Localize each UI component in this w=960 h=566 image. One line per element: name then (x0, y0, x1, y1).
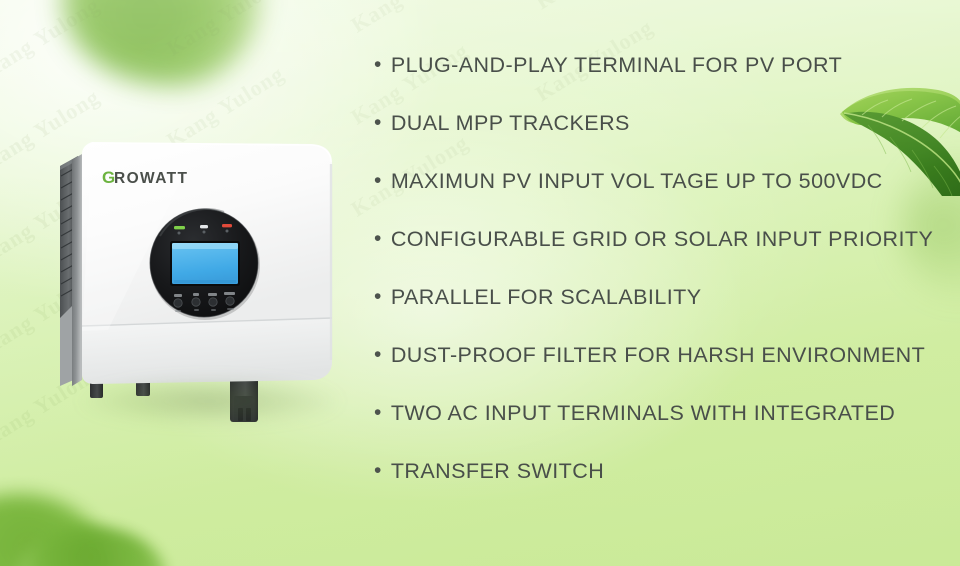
bullet-icon: • (374, 54, 382, 75)
list-item: • CONFIGURABLE GRID OR SOLAR INPUT PRIOR… (374, 228, 934, 286)
list-item: • PLUG-AND-PLAY TERMINAL FOR PV PORT (374, 54, 934, 112)
list-item: • PARALLEL FOR SCALABILITY (374, 286, 934, 344)
feature-label: TWO AC INPUT TERMINALS WITH INTEGRATED (391, 402, 895, 425)
list-item: • MAXIMUN PV INPUT VOL TAGE UP TO 500VDC (374, 170, 934, 228)
bullet-icon: • (374, 228, 382, 249)
feature-label: TRANSFER SWITCH (391, 460, 604, 483)
feature-banner: Kang YulongKang YulongKang YulongKang Yu… (0, 0, 960, 566)
feature-list: • PLUG-AND-PLAY TERMINAL FOR PV PORT • D… (374, 54, 934, 518)
bullet-icon: • (374, 460, 382, 481)
list-item: • DUAL MPP TRACKERS (374, 112, 934, 170)
feature-label: PARALLEL FOR SCALABILITY (391, 286, 702, 309)
list-item: • TRANSFER SWITCH (374, 460, 934, 518)
bullet-icon: • (374, 286, 382, 307)
feature-label: MAXIMUN PV INPUT VOL TAGE UP TO 500VDC (391, 170, 883, 193)
bullet-icon: • (374, 170, 382, 191)
feature-label: CONFIGURABLE GRID OR SOLAR INPUT PRIORIT… (391, 228, 934, 251)
bullet-icon: • (374, 344, 382, 365)
bullet-icon: • (374, 112, 382, 133)
list-item: • DUST-PROOF FILTER FOR HARSH ENVIRONMEN… (374, 344, 934, 402)
bullet-icon: • (374, 402, 382, 423)
feature-label: DUAL MPP TRACKERS (391, 112, 630, 135)
feature-label: PLUG-AND-PLAY TERMINAL FOR PV PORT (391, 54, 842, 77)
feature-label: DUST-PROOF FILTER FOR HARSH ENVIRONMENT (391, 344, 925, 367)
list-item: • TWO AC INPUT TERMINALS WITH INTEGRATED (374, 402, 934, 460)
